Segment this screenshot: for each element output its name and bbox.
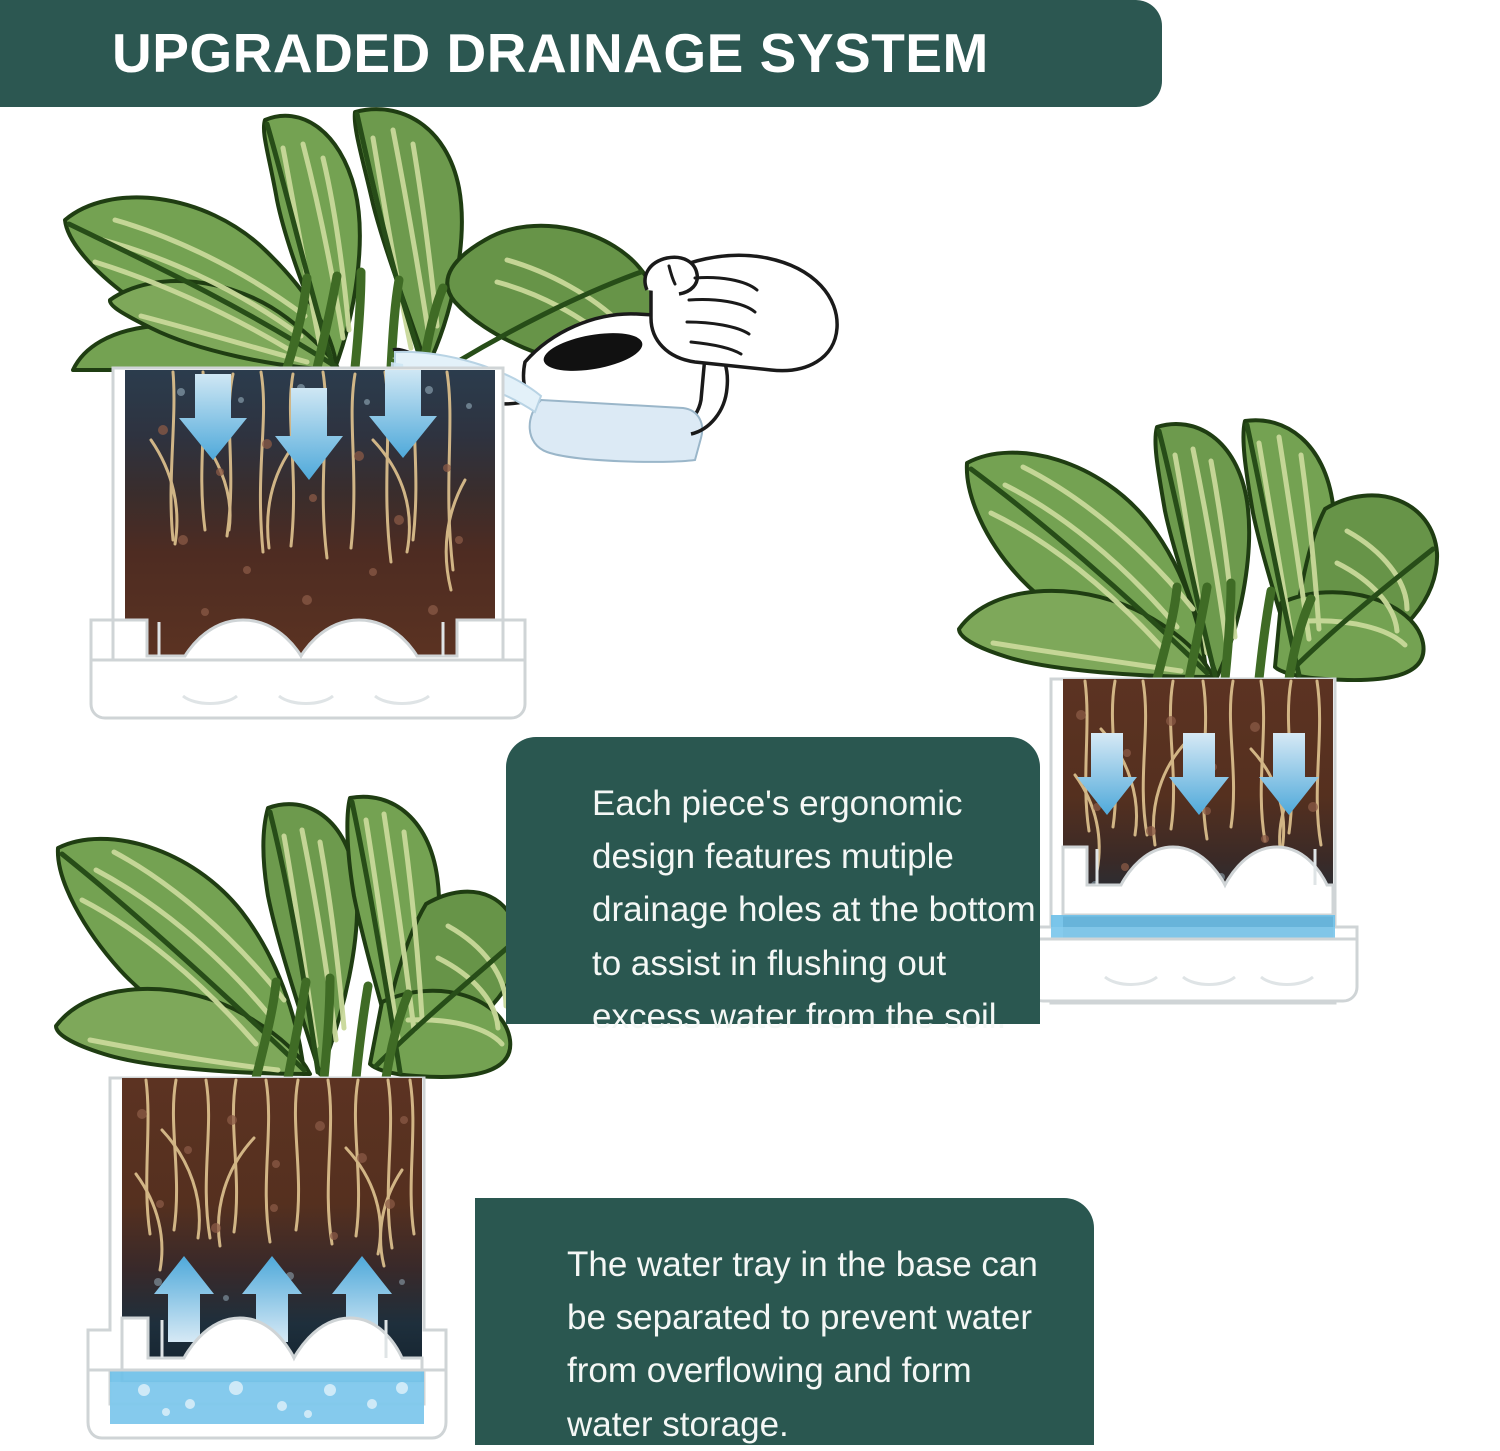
- planter-body: [91, 368, 525, 718]
- page-title: UPGRADED DRAINAGE SYSTEM: [112, 26, 989, 81]
- plant-icon: [56, 797, 518, 1078]
- hand-icon: [645, 255, 837, 370]
- callout-line: The water tray in the base can: [567, 1238, 1076, 1291]
- callout-water-tray: The water tray in the base can be separa…: [475, 1198, 1094, 1445]
- callout-line: drainage holes at the bottom: [592, 883, 1022, 936]
- callout-line: be separated to prevent water: [567, 1291, 1076, 1344]
- illustration-planter-top-left: [55, 100, 845, 740]
- callout-line: design features mutiple: [592, 830, 1022, 883]
- planter-body: [88, 1078, 446, 1438]
- callout-line: to assist in flushing out: [592, 937, 1022, 990]
- callout-line: Each piece's ergonomic: [592, 777, 1022, 830]
- callout-line: water storage.: [567, 1398, 1076, 1451]
- header-banner: UPGRADED DRAINAGE SYSTEM: [0, 0, 1162, 107]
- illustration-planter-bottom-left: [50, 790, 520, 1445]
- callout-drainage-holes: Each piece's ergonomic design features m…: [506, 737, 1040, 1024]
- planter-body: [1029, 679, 1357, 1003]
- down-arrow-icon: [1077, 733, 1319, 815]
- callout-line: excess water from the soil.: [592, 990, 1022, 1043]
- callout-line: from overflowing and form: [567, 1344, 1076, 1397]
- plant-icon: [959, 420, 1437, 680]
